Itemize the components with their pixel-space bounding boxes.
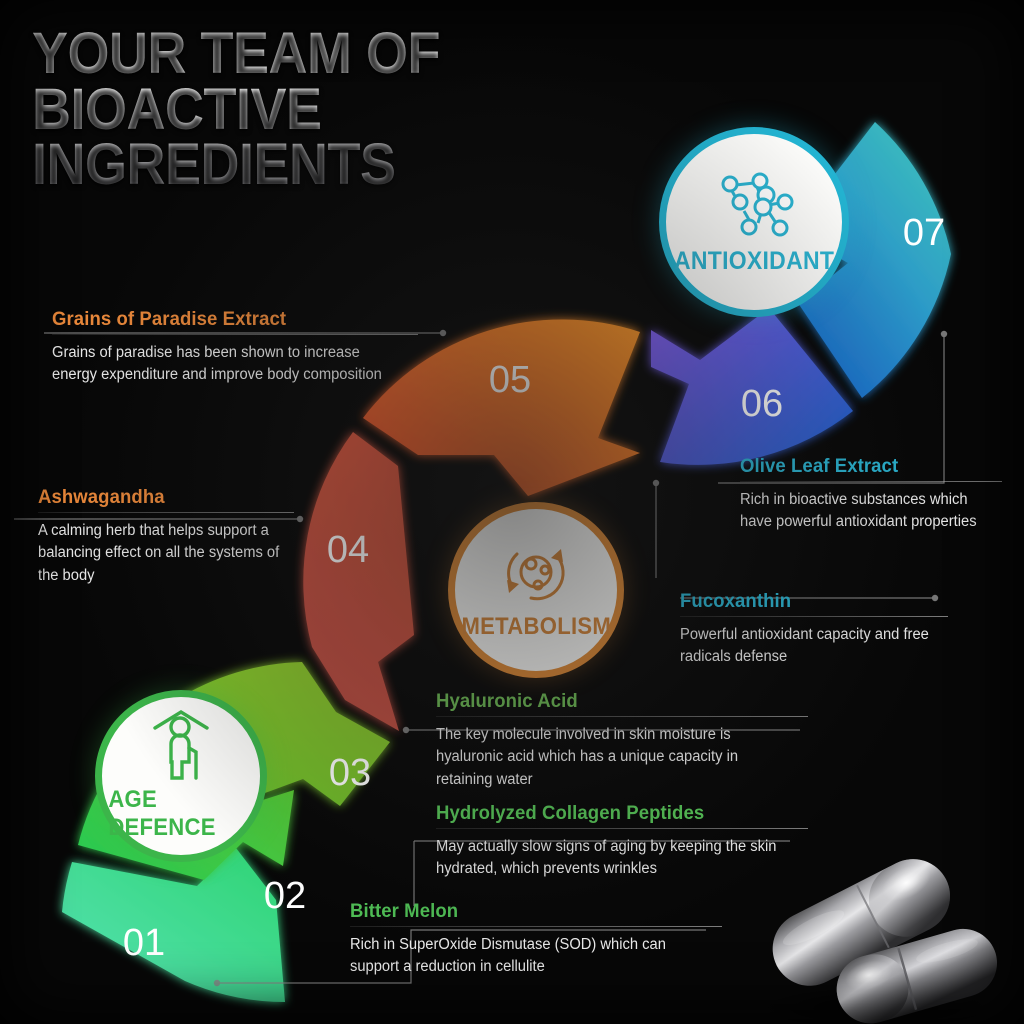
badge-antioxidant[interactable]: ANTIOXIDANT [659,127,849,317]
callout-heading: Bitter Melon [350,900,703,923]
callout-heading: Ashwagandha [38,486,281,509]
callout-heading: Olive Leaf Extract [740,455,989,478]
callout-body: Rich in SuperOxide Dismutase (SOD) which… [350,934,703,979]
badge-age-defence-label: AGE DEFENCE [108,786,253,842]
badge-age-defence[interactable]: AGE DEFENCE [95,690,267,862]
badge-metabolism-label: METABOLISM [461,613,611,641]
callout-heading: Hydrolyzed Collagen Peptides [436,802,789,825]
infographic-canvas: YOUR TEAM OF BIOACTIVE INGREDIENTS [0,0,1024,1024]
callout-fucoxanthin[interactable]: Fucoxanthin Powerful antioxidant capacit… [680,590,948,669]
callout-rule [52,334,418,335]
callout-ashwagandha[interactable]: Ashwagandha A calming herb that helps su… [38,486,294,587]
callout-bitter-melon[interactable]: Bitter Melon Rich in SuperOxide Dismutas… [350,900,722,979]
segment-number-03: 03 [329,752,371,794]
callout-body: The key molecule involved in skin moistu… [436,724,789,791]
segment-number-07: 07 [903,212,945,254]
callout-rule [38,512,294,513]
callout-body: A calming herb that helps support a bala… [38,520,281,587]
callout-hydrolyzed-collagen-peptides[interactable]: Hydrolyzed Collagen Peptides May actuall… [436,802,808,881]
segment-number-06: 06 [741,383,783,425]
badge-metabolism[interactable]: METABOLISM [448,502,624,678]
badge-antioxidant-label: ANTIOXIDANT [674,247,834,276]
metabolism-cycle-icon [495,540,577,610]
callout-rule [350,926,722,927]
callout-heading: Grains of Paradise Extract [52,308,400,331]
callout-rule [436,716,808,717]
callout-body: Grains of paradise has been shown to inc… [52,342,400,387]
segment-number-02: 02 [264,875,306,917]
callout-rule [740,481,1002,482]
callout-heading: Hyaluronic Acid [436,690,789,713]
callout-grains-of-paradise-extract[interactable]: Grains of Paradise Extract Grains of par… [52,308,418,387]
callout-rule [680,616,948,617]
segment-number-04: 04 [327,529,369,571]
callout-hyaluronic-acid[interactable]: Hyaluronic Acid The key molecule involve… [436,690,808,791]
elderly-person-icon [141,710,221,784]
callout-body: Powerful antioxidant capacity and free r… [680,624,935,669]
callout-rule [436,828,808,829]
segment-number-05: 05 [489,359,531,401]
ring-segment-04[interactable] [303,432,414,731]
callout-heading: Fucoxanthin [680,590,935,613]
callout-olive-leaf-extract[interactable]: Olive Leaf Extract Rich in bioactive sub… [740,455,1002,534]
capsules-image [756,836,1018,1024]
segment-number-01: 01 [123,922,165,964]
callout-body: Rich in bioactive substances which have … [740,489,989,534]
molecule-icon [710,169,798,243]
callout-body: May actually slow signs of aging by keep… [436,836,789,881]
